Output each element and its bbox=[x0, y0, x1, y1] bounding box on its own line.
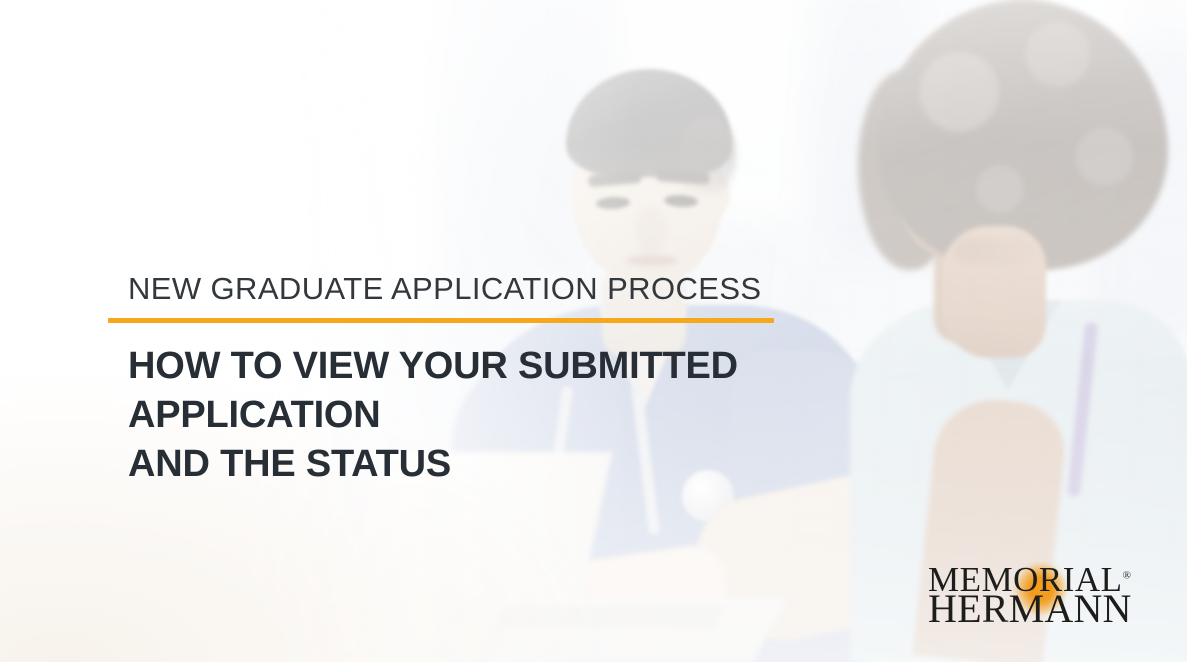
mouth bbox=[626, 255, 678, 266]
accent-divider-rule bbox=[108, 318, 774, 323]
laptop-keyboard bbox=[494, 606, 726, 628]
title-slide: NEW GRADUATE APPLICATION PROCESS HOW TO … bbox=[0, 0, 1187, 662]
logo-wordmark-hermann: HERMANN bbox=[928, 589, 1142, 629]
nose bbox=[636, 207, 666, 255]
memorial-hermann-logo: MEMORIAL® HERMANN bbox=[928, 560, 1142, 628]
page-title-line-1: HOW TO VIEW YOUR SUBMITTED APPLICATION bbox=[128, 345, 738, 436]
knuckles bbox=[954, 238, 1036, 264]
registered-trademark-icon: ® bbox=[1123, 569, 1131, 581]
eyebrow-text: NEW GRADUATE APPLICATION PROCESS bbox=[128, 272, 1008, 305]
title-text-block: NEW GRADUATE APPLICATION PROCESS HOW TO … bbox=[108, 272, 1008, 488]
page-title-line-2: AND THE STATUS bbox=[128, 440, 988, 489]
window-pane bbox=[300, 0, 430, 310]
page-title: HOW TO VIEW YOUR SUBMITTED APPLICATION A… bbox=[128, 342, 988, 488]
